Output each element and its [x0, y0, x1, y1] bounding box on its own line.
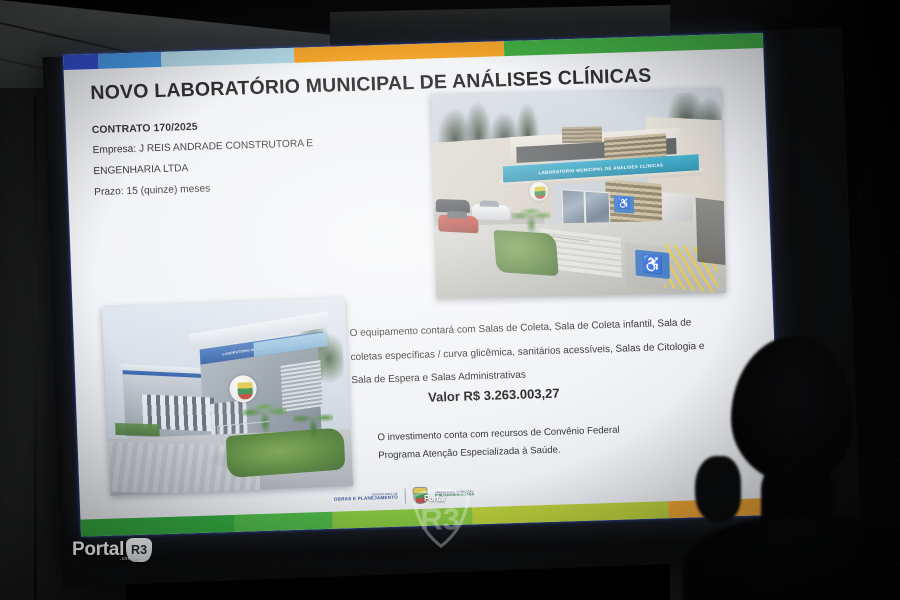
projected-slide: NOVO LABORATÓRIO MUNICIPAL DE ANÁLISES C… [63, 33, 781, 537]
top-bar-segment-1 [63, 54, 99, 70]
photo-scene: NOVO LABORATÓRIO MUNICIPAL DE ANÁLISES C… [0, 0, 900, 600]
wall-edge [34, 96, 37, 600]
slide-title: NOVO LABORATÓRIO MUNICIPAL DE ANÁLISES C… [90, 63, 742, 105]
bottom-bar-segment-2 [234, 512, 333, 532]
slide-body: NOVO LABORATÓRIO MUNICIPAL DE ANÁLISES C… [64, 48, 781, 520]
bottom-bar-segment-5 [668, 498, 781, 519]
